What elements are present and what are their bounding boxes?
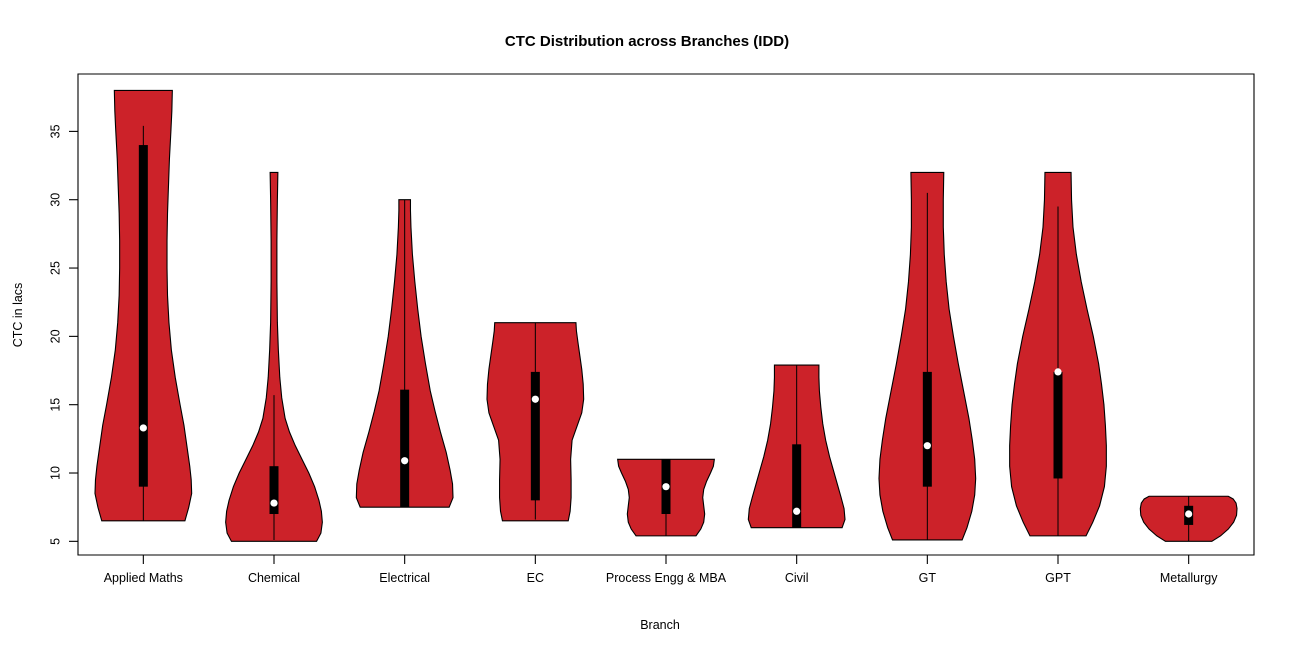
x-tick-label: Applied Maths [104, 571, 183, 585]
x-axis-title: Branch [640, 618, 680, 632]
median-marker [532, 396, 539, 403]
y-tick-label: 15 [48, 398, 62, 412]
median-marker [401, 457, 408, 464]
x-tick-label: Civil [785, 571, 809, 585]
x-tick-label: Metallurgy [1160, 571, 1218, 585]
violin-ec[interactable] [487, 323, 584, 521]
iqr-box [139, 145, 148, 487]
x-tick-label: EC [527, 571, 544, 585]
median-marker [793, 508, 800, 515]
y-tick-label: 20 [48, 329, 62, 343]
y-tick-label: 35 [48, 124, 62, 138]
violin-metallurgy[interactable] [1140, 496, 1237, 541]
iqr-box [400, 390, 409, 508]
median-marker [924, 442, 931, 449]
violin-process-engg-mba[interactable] [618, 459, 715, 536]
y-tick-label: 10 [48, 466, 62, 480]
violin-plot-figure: CTC Distribution across Branches (IDD) 5… [0, 0, 1294, 653]
x-tick-label: Process Engg & MBA [606, 571, 727, 585]
x-tick-label: GT [919, 571, 937, 585]
y-axis-title: CTC in lacs [11, 283, 25, 348]
iqr-box [923, 372, 932, 487]
y-tick-label: 25 [48, 261, 62, 275]
iqr-box [270, 466, 279, 514]
y-tick-label: 30 [48, 193, 62, 207]
median-marker [140, 424, 147, 431]
median-marker [1185, 510, 1192, 517]
iqr-box [792, 444, 801, 527]
x-tick-label: Electrical [379, 571, 430, 585]
x-tick-label: Chemical [248, 571, 300, 585]
iqr-box [1054, 372, 1063, 479]
median-marker [1054, 368, 1061, 375]
x-tick-label: GPT [1045, 571, 1071, 585]
plot-canvas: CTC Distribution across Branches (IDD) 5… [0, 0, 1294, 653]
median-marker [270, 499, 277, 506]
iqr-box [531, 372, 540, 500]
chart-title: CTC Distribution across Branches (IDD) [505, 33, 789, 50]
median-marker [662, 483, 669, 490]
y-tick-label: 5 [48, 538, 62, 545]
